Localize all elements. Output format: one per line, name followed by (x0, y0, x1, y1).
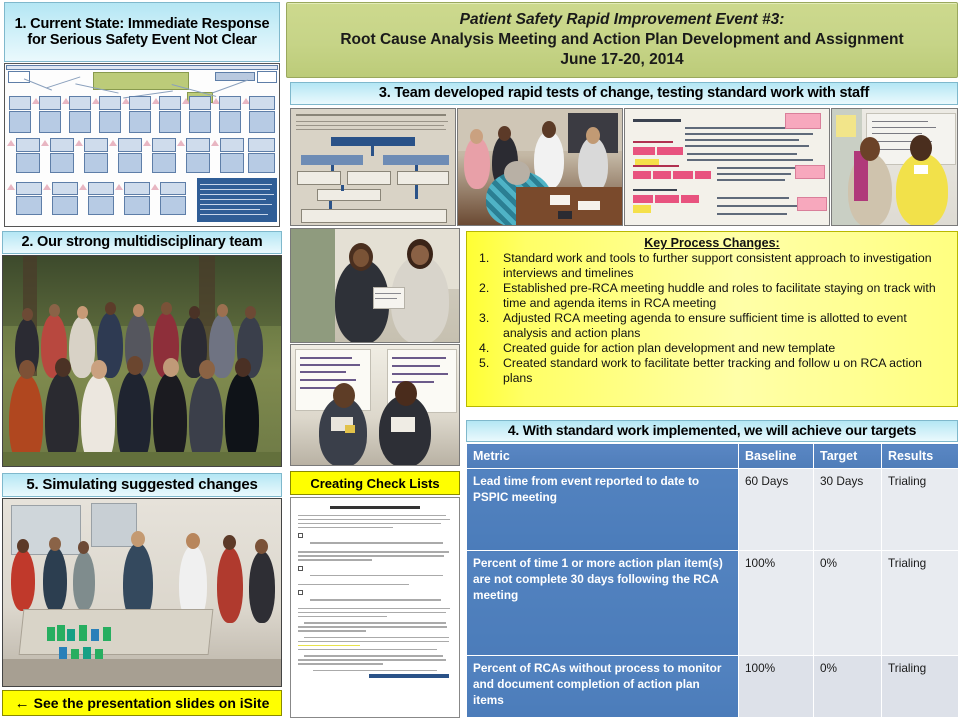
key-process-changes-list: Standard work and tools to further suppo… (473, 251, 951, 386)
panel-2-header: 2. Our strong multidisciplinary team (2, 231, 282, 254)
simulation-photo (2, 498, 282, 687)
whiteboard-art (625, 109, 829, 225)
flowchart-poster-photo (290, 108, 456, 226)
flowchart-poster-art (291, 109, 455, 225)
left-column: 1. Current State: Immediate Response for… (0, 0, 284, 720)
team-photo-art (3, 256, 281, 466)
creating-check-lists-header: Creating Check Lists (290, 471, 460, 495)
checklist-item (298, 566, 452, 585)
after-serious-event-checklist-document (290, 497, 460, 718)
simulation-room-art (3, 499, 281, 686)
panel-3-header: 3. Team developed rapid tests of change,… (290, 82, 958, 105)
two-women-art (291, 229, 459, 342)
checklist-item (298, 590, 452, 617)
checklist-doc-title-rule (330, 506, 419, 509)
checklist-paragraph (298, 622, 452, 631)
column-header-metric: Metric (467, 444, 739, 469)
checklist-item (298, 533, 452, 560)
panel-5-header: 5. Simulating suggested changes (2, 473, 282, 497)
cell-target: 30 Days (814, 469, 882, 551)
targets-table: Metric Baseline Target Results Lead time… (466, 443, 959, 718)
cell-baseline: 100% (739, 656, 814, 718)
cell-baseline: 60 Days (739, 469, 814, 551)
panel-4-header: 4. With standard work implemented, we wi… (466, 420, 958, 442)
cell-results: Trialing (882, 656, 959, 718)
column-header-target: Target (814, 444, 882, 469)
table-row: Percent of RCAs without process to monit… (467, 656, 959, 718)
key-process-change-item: Created guide for action plan developmen… (473, 341, 951, 356)
team-meeting-around-table-photo (457, 108, 623, 226)
cell-metric: Percent of RCAs without process to monit… (467, 656, 739, 718)
checklist-document-art (291, 498, 459, 717)
cell-results: Trialing (882, 469, 959, 551)
key-process-change-item: Standard work and tools to further suppo… (473, 251, 951, 281)
current-state-value-stream-map-image (4, 63, 280, 227)
cell-results: Trialing (882, 551, 959, 656)
multidisciplinary-team-photo (2, 255, 282, 467)
key-process-change-item: Created standard work to facilitate bett… (473, 356, 951, 386)
key-process-change-item: Adjusted RCA meeting agenda to ensure su… (473, 311, 951, 341)
cell-metric: Percent of time 1 or more action plan it… (467, 551, 739, 656)
checkbox-icon (298, 590, 303, 595)
checklist-footer (298, 670, 452, 678)
poster-title-line-3: June 17-20, 2014 (560, 50, 683, 70)
two-staff-art (832, 109, 957, 225)
cell-target: 0% (814, 551, 882, 656)
two-women-holding-binder-photo (290, 228, 460, 343)
poster-title-line-1: Patient Safety Rapid Improvement Event #… (460, 10, 785, 29)
column-header-baseline: Baseline (739, 444, 814, 469)
checklist-paragraph (298, 515, 452, 528)
isite-link-banner[interactable]: ← See the presentation slides on iSite (2, 690, 282, 716)
checkbox-icon (298, 533, 303, 538)
poster-title-line-2: Root Cause Analysis Meeting and Action P… (340, 30, 903, 50)
table-row: Lead time from event reported to date to… (467, 469, 959, 551)
value-stream-map-art (5, 64, 279, 226)
cell-metric: Lead time from event reported to date to… (467, 469, 739, 551)
whiteboard-plan-for-am-photo (624, 108, 830, 226)
table-row: Percent of time 1 or more action plan it… (467, 551, 959, 656)
key-process-changes-box: Key Process Changes: Standard work and t… (466, 231, 958, 407)
meeting-room-art (458, 109, 622, 225)
key-process-change-item: Established pre-RCA meeting huddle and r… (473, 281, 951, 311)
cell-baseline: 100% (739, 551, 814, 656)
panel-1-header: 1. Current State: Immediate Response for… (4, 2, 280, 62)
left-arrow-icon: ← (15, 695, 30, 712)
checkbox-icon (298, 566, 303, 571)
column-header-results: Results (882, 444, 959, 469)
poster-title-banner: Patient Safety Rapid Improvement Event #… (286, 2, 958, 78)
key-process-changes-title: Key Process Changes: (473, 236, 951, 250)
cell-target: 0% (814, 656, 882, 718)
two-staff-in-front-of-flipchart-photo (290, 344, 460, 466)
checklist-paragraph (298, 655, 452, 664)
isite-link-label: See the presentation slides on iSite (34, 695, 270, 711)
flipchart-scene-art (291, 345, 459, 465)
two-staff-discussing-photo (831, 108, 958, 226)
checklist-paragraph (298, 637, 452, 650)
poster-page: 1. Current State: Immediate Response for… (0, 0, 960, 720)
table-header-row: Metric Baseline Target Results (467, 444, 959, 469)
